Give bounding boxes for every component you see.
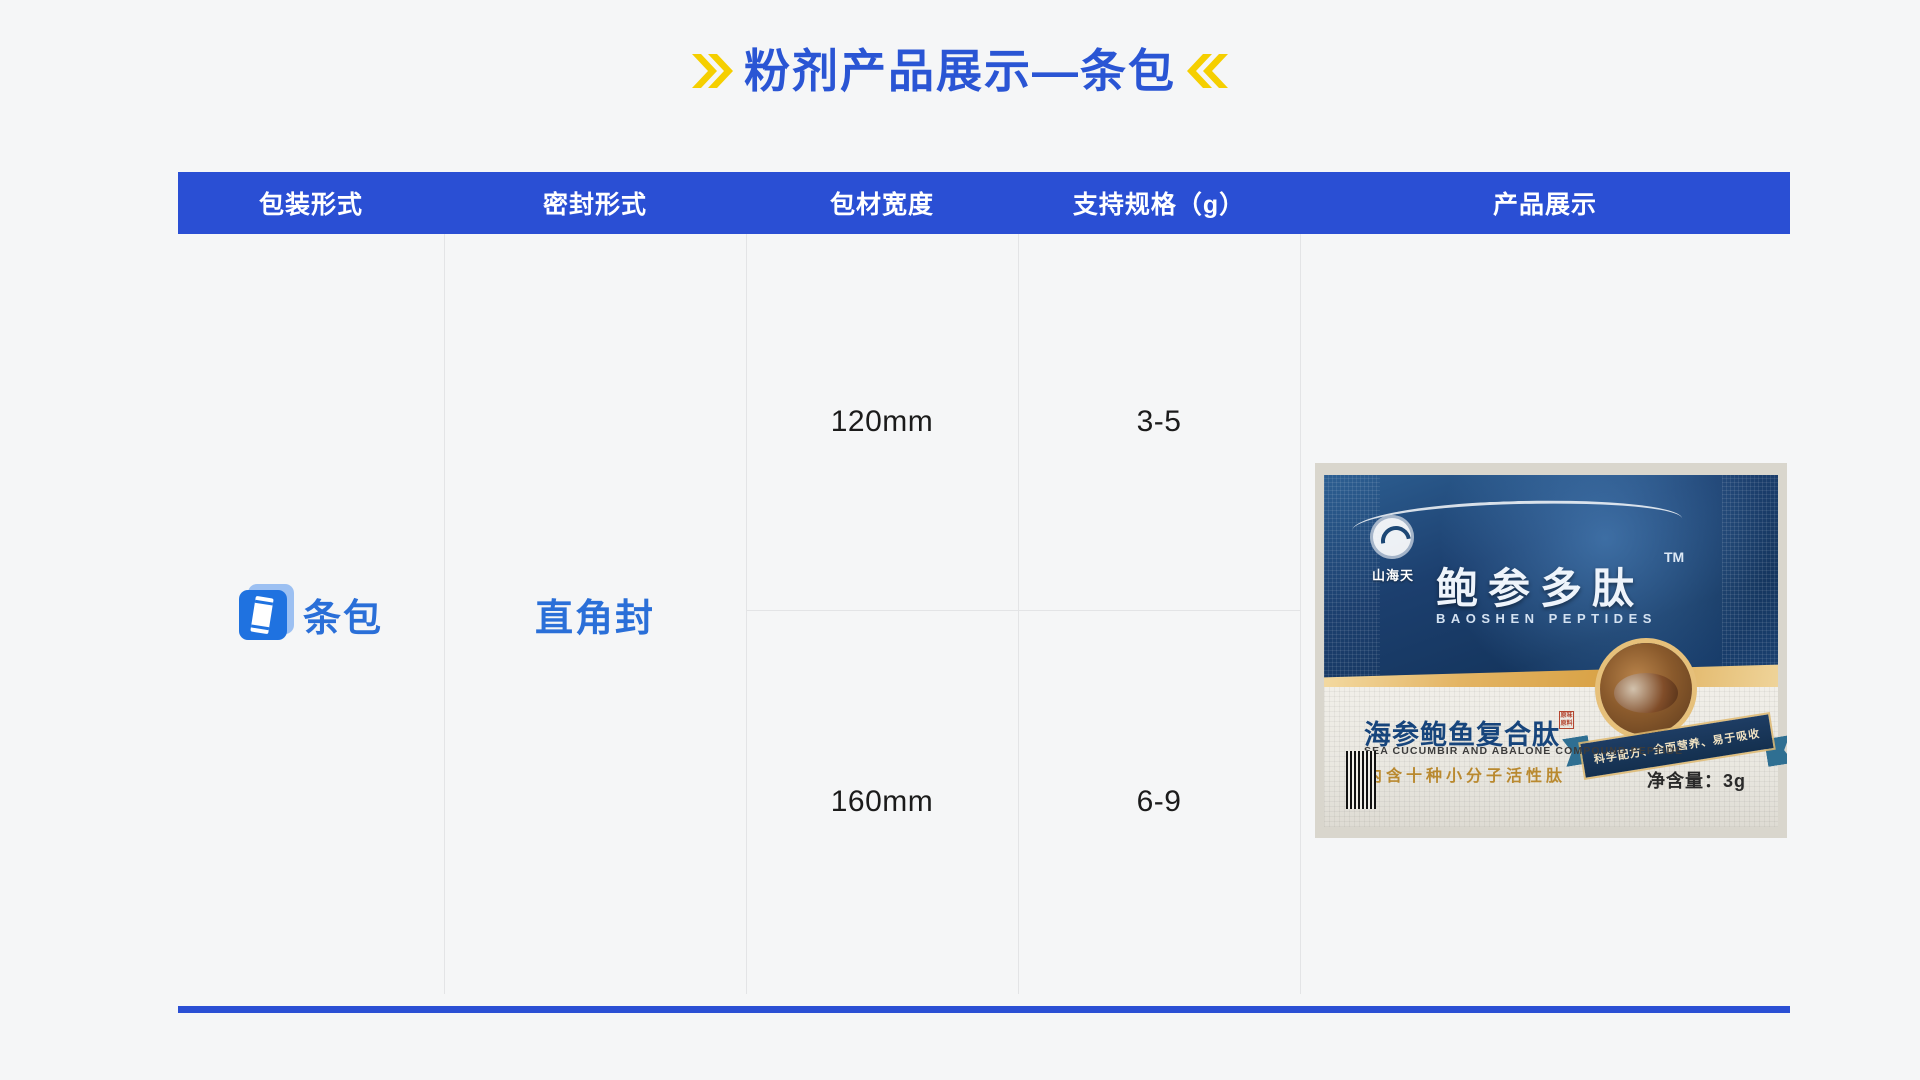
sachet-texture-right bbox=[1722, 475, 1778, 687]
product-subtitle-cn: 内含十种小分子活性肽 bbox=[1366, 762, 1566, 786]
package-form-content: 条包 bbox=[239, 587, 383, 642]
spec-value-2: 6-9 bbox=[1137, 785, 1182, 819]
product-photo-inner: 山海天 鲍参多肽 TM BAOSHEN PEPTIDES 科学配方、全面营养、易… bbox=[1324, 475, 1778, 827]
food-photo-icon bbox=[1600, 643, 1692, 735]
brand-logo-icon bbox=[1370, 515, 1414, 559]
stick-pack-icon bbox=[239, 588, 291, 640]
brand-name-cn: 鲍参多肽 bbox=[1436, 555, 1644, 616]
seal-form-label: 直角封 bbox=[535, 587, 655, 642]
cell-width-row-2: 160mm bbox=[746, 610, 1018, 994]
product-photo: 山海天 鲍参多肽 TM BAOSHEN PEPTIDES 科学配方、全面营养、易… bbox=[1315, 463, 1787, 838]
cell-width-row-1: 120mm bbox=[746, 234, 1018, 610]
product-showcase-page: 粉剂产品展示—条包 包装形式 密封形式 包材宽度 支持规格（g） 产品展示 bbox=[0, 0, 1920, 1080]
table-header-package-form: 包装形式 bbox=[178, 185, 444, 221]
table-header-material-width: 包材宽度 bbox=[746, 185, 1018, 221]
table-header-seal-form: 密封形式 bbox=[444, 185, 746, 221]
page-title-text: 粉剂产品展示—条包 bbox=[744, 48, 1176, 94]
cell-spec-row-2: 6-9 bbox=[1018, 610, 1300, 994]
brand-name-en: BAOSHEN PEPTIDES bbox=[1436, 611, 1657, 626]
spec-value-1: 3-5 bbox=[1137, 405, 1182, 439]
table-header-row: 包装形式 密封形式 包材宽度 支持规格（g） 产品展示 bbox=[178, 172, 1790, 234]
brand-logo-text: 山海天 bbox=[1364, 565, 1422, 584]
product-seal-stamp: 原味原料 bbox=[1559, 711, 1574, 729]
column-divider-4 bbox=[1300, 234, 1301, 994]
cell-spec-row-1: 3-5 bbox=[1018, 234, 1300, 610]
page-title: 粉剂产品展示—条包 bbox=[0, 48, 1920, 94]
brand-trademark-mark: TM bbox=[1664, 549, 1684, 565]
cell-seal-form: 直角封 bbox=[444, 234, 746, 994]
cell-package-form: 条包 bbox=[178, 234, 444, 994]
product-name-en: SEA CUCUMBIR AND ABALONE COMPOUND PEPTID… bbox=[1364, 745, 1683, 757]
net-weight-label: 净含量：3g bbox=[1647, 767, 1746, 793]
barcode-icon bbox=[1346, 751, 1376, 809]
table-header-product-display: 产品展示 bbox=[1300, 185, 1790, 221]
chevron-left-double-icon bbox=[1186, 51, 1230, 91]
product-sachet: 山海天 鲍参多肽 TM BAOSHEN PEPTIDES 科学配方、全面营养、易… bbox=[1324, 475, 1778, 827]
package-form-label: 条包 bbox=[303, 587, 383, 642]
chevron-right-double-icon bbox=[690, 51, 734, 91]
bottom-accent-rule bbox=[178, 1006, 1790, 1013]
width-value-1: 120mm bbox=[831, 405, 934, 439]
width-value-2: 160mm bbox=[831, 785, 934, 819]
table-header-supported-spec: 支持规格（g） bbox=[1018, 185, 1300, 221]
